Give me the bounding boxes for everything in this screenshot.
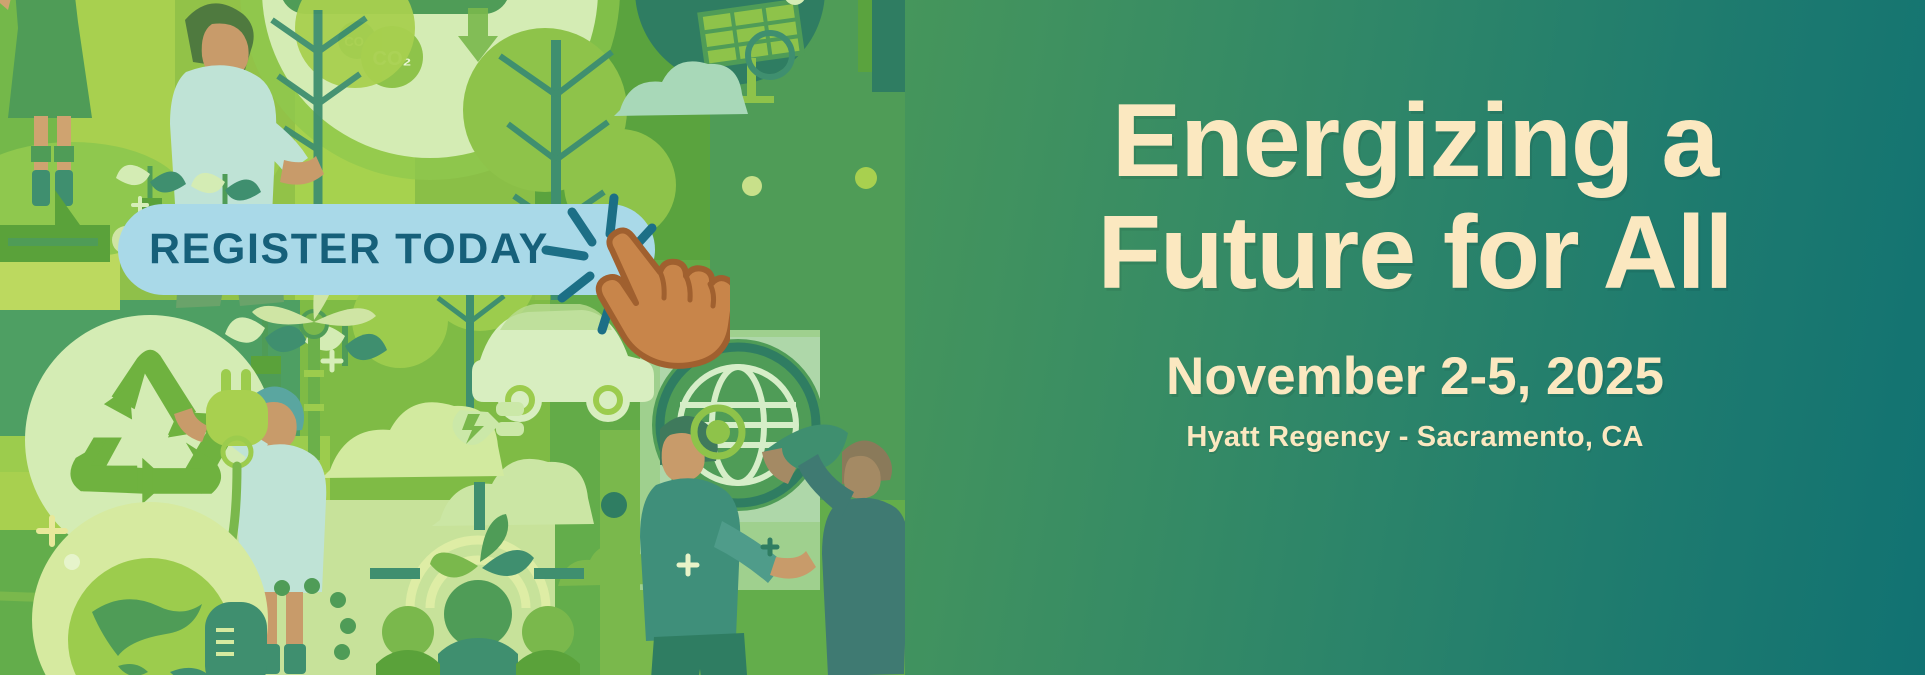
headline-line-1: Energizing a xyxy=(1112,88,1718,194)
sustainability-illustration: CO₂ CO₂ CO₂ xyxy=(0,0,905,675)
event-text-block: Energizing a Future for All November 2-5… xyxy=(905,0,1925,675)
event-banner: CO₂ CO₂ CO₂ xyxy=(0,0,1925,675)
register-today-label: REGISTER TODAY xyxy=(149,225,549,274)
register-today-button[interactable]: REGISTER TODAY xyxy=(118,204,655,295)
event-date: November 2-5, 2025 xyxy=(1166,346,1664,407)
building-icon xyxy=(205,602,267,675)
event-venue: Hyatt Regency - Sacramento, CA xyxy=(1186,421,1643,454)
headline-line-2: Future for All xyxy=(1098,200,1733,306)
